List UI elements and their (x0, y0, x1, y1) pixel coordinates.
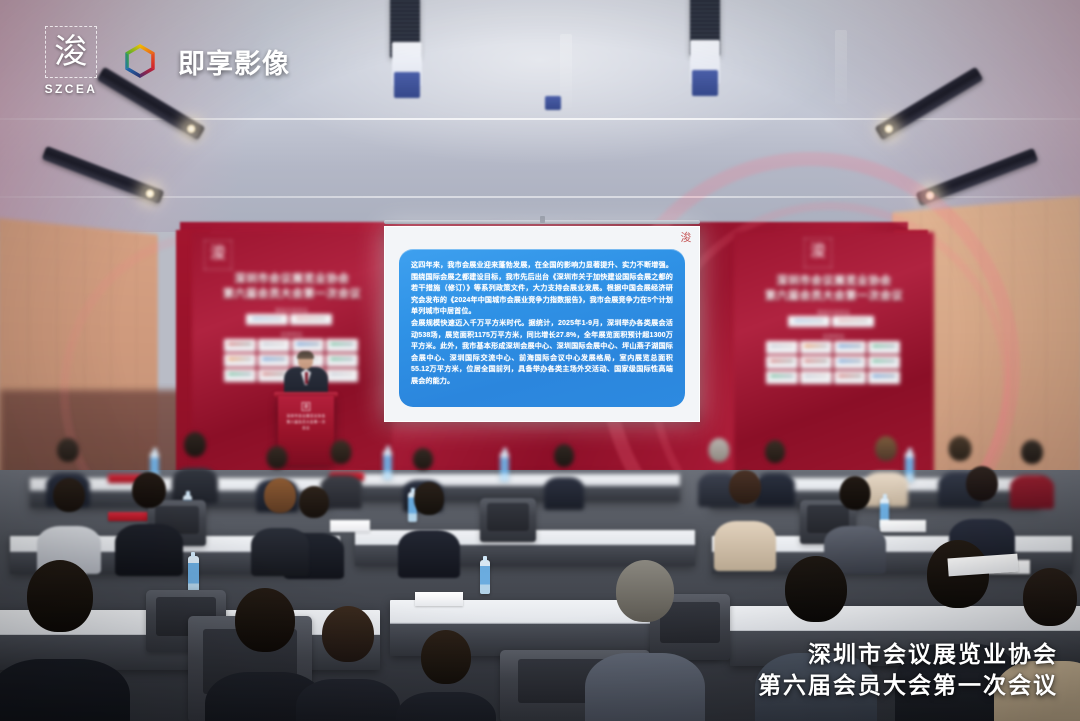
person-body (251, 528, 309, 576)
sponsor-logo (832, 316, 874, 327)
slide-watermark-icon: 浚 (678, 231, 694, 251)
person-head (57, 438, 79, 462)
person-head (264, 478, 296, 513)
szcea-mark-icon: 浚 (45, 26, 97, 78)
person-body (544, 477, 584, 510)
water-bottle (188, 556, 199, 594)
person-head (331, 440, 352, 464)
audience-member (175, 432, 215, 490)
sponsor-logo-grid-primary (246, 314, 332, 325)
person-body (585, 653, 705, 721)
sponsor-logo (834, 371, 866, 384)
hexring-icon (120, 41, 160, 81)
ceiling-projector-mount (394, 72, 420, 98)
water-bottle (480, 560, 490, 594)
person-head (235, 588, 295, 652)
person-head (414, 482, 444, 515)
sponsor-logo-grid-secondary (766, 341, 900, 384)
person-head (616, 560, 674, 622)
sponsor-logo (800, 356, 832, 369)
person-body (296, 679, 400, 721)
audience-member (252, 478, 308, 558)
sponsor-logo (766, 341, 798, 354)
speaker-tie (305, 372, 308, 384)
screenshot-root: 浚 深圳市会议展览业协会 第六届会员大会第一次会议 特别支持单位 支持单位 主办… (0, 0, 1080, 721)
sponsor-logo (868, 371, 900, 384)
sponsor-logo (246, 314, 288, 325)
person-head (949, 436, 972, 461)
person-head (765, 440, 785, 463)
ceiling-vent (560, 34, 572, 108)
sponsor-logo (788, 316, 830, 327)
person-body (398, 530, 460, 578)
audience-member (826, 476, 884, 556)
podium-emblem-icon: 浚 (302, 402, 311, 411)
water-bottle (500, 452, 509, 482)
sponsor-logo (868, 356, 900, 369)
brand-name: 即享影像 (178, 42, 290, 81)
audience-member (590, 560, 700, 710)
slide-paragraph-2: 会展规模快速迈入千万平方米时代。据统计，2025年1-9月，深圳举办各类展会活动… (411, 318, 673, 388)
podium-nameplate-line2: 第六届会员大会第一次会议 (286, 419, 326, 431)
banner-sponsor-label-2: 支持单位 (192, 332, 392, 338)
person-head (966, 466, 998, 501)
person-head (729, 470, 761, 504)
audience-member (1012, 440, 1052, 496)
sponsor-logo (800, 371, 832, 384)
audience-member (118, 472, 180, 556)
ceiling-spotlight (143, 186, 157, 200)
person-head (1021, 440, 1043, 464)
person-head (184, 432, 206, 457)
ceiling-projector-mount (692, 70, 718, 96)
audience-member (40, 478, 98, 556)
szcea-mark-glyph: 浚 (54, 35, 88, 69)
person-head (785, 556, 847, 622)
slide-content-box: 这四年来，我市会展业迎来蓬勃发展，在全国的影响力显著提升、实力不断增强。围绕国际… (399, 249, 685, 407)
szcea-logo: 浚 SZCEA (40, 26, 102, 96)
association-logo-icon: 浚 (204, 240, 232, 270)
person-head (53, 478, 85, 512)
audience-member (300, 606, 396, 721)
audience-member (546, 444, 582, 498)
event-caption-line1: 深圳市会议展览业协会 (758, 639, 1058, 670)
slide-paragraph-1: 这四年来，我市会展业迎来蓬勃发展，在全国的影响力显著提升、实力不断增强。围绕国际… (411, 260, 673, 318)
sponsor-logo (766, 356, 798, 369)
water-bottle (905, 452, 914, 482)
water-bottle (383, 450, 392, 480)
sponsor-logo (800, 341, 832, 354)
sponsor-logo (766, 371, 798, 384)
audience-member (0, 560, 120, 720)
banner-title-line2: 第六届会员大会第一次会议 (192, 287, 392, 302)
person-head (27, 560, 93, 632)
sponsor-logo-grid-primary (788, 316, 874, 327)
person-body (0, 659, 130, 721)
person-head (1023, 568, 1077, 626)
person-head (421, 630, 471, 684)
banner-title-line1: 深圳市会议展览业协会 (192, 272, 392, 287)
chair (480, 498, 536, 542)
sponsor-logo (258, 339, 290, 352)
watermark-logos: 浚 SZCEA (40, 26, 290, 96)
projection-screen: 浚 这四年来，我市会展业迎来蓬勃发展，在全国的影响力显著提升、实力不断增强。围绕… (384, 226, 700, 422)
audience-member (400, 482, 458, 560)
szcea-abbrev: SZCEA (40, 82, 102, 96)
banner-sponsor-label-2: 支持单位 (734, 334, 934, 340)
association-logo-glyph: 浚 (810, 241, 826, 260)
person-head (709, 438, 730, 462)
banner-title-line2: 第六届会员大会第一次会议 (734, 289, 934, 304)
person-body (115, 524, 183, 576)
handout-paper (880, 520, 926, 532)
podium-nameplate: 深圳市会议展览业协会 第六届会员大会第一次会议 (286, 413, 326, 435)
banner-title: 深圳市会议展览业协会 第六届会员大会第一次会议 (734, 274, 934, 304)
sponsor-logo (834, 356, 866, 369)
sponsor-logo (290, 314, 332, 325)
sponsor-logo (224, 354, 256, 367)
podium-emblem-glyph: 浚 (303, 404, 308, 410)
sponsor-logo (834, 341, 866, 354)
person-head (840, 476, 871, 510)
person-body (1010, 475, 1054, 509)
sponsor-logo (326, 339, 358, 352)
person-head (267, 446, 288, 469)
event-caption-line2: 第六届会员大会第一次会议 (758, 670, 1058, 701)
person-head (554, 444, 574, 467)
sponsor-logo (224, 369, 256, 382)
sponsor-logo (868, 341, 900, 354)
banner-title-line1: 深圳市会议展览业协会 (734, 274, 934, 289)
person-head (413, 448, 433, 470)
association-logo-glyph: 浚 (210, 243, 226, 262)
handout-paper (415, 592, 463, 606)
person-head (875, 436, 897, 461)
screen-mount (540, 216, 545, 223)
person-body (396, 692, 496, 721)
audience-member (716, 470, 774, 552)
sponsor-logo (224, 339, 256, 352)
ceiling-vent (835, 30, 847, 104)
audience-member (400, 630, 492, 721)
person-head (322, 606, 374, 662)
association-logo-icon: 浚 (804, 238, 832, 268)
person-head (132, 472, 166, 508)
slide-watermark-glyph: 浚 (681, 231, 692, 244)
speaker-hair (297, 351, 314, 359)
ceiling-projector (545, 96, 561, 110)
event-caption: 深圳市会议展览业协会 第六届会员大会第一次会议 (758, 639, 1058, 701)
banner-title: 深圳市会议展览业协会 第六届会员大会第一次会议 (192, 272, 392, 302)
